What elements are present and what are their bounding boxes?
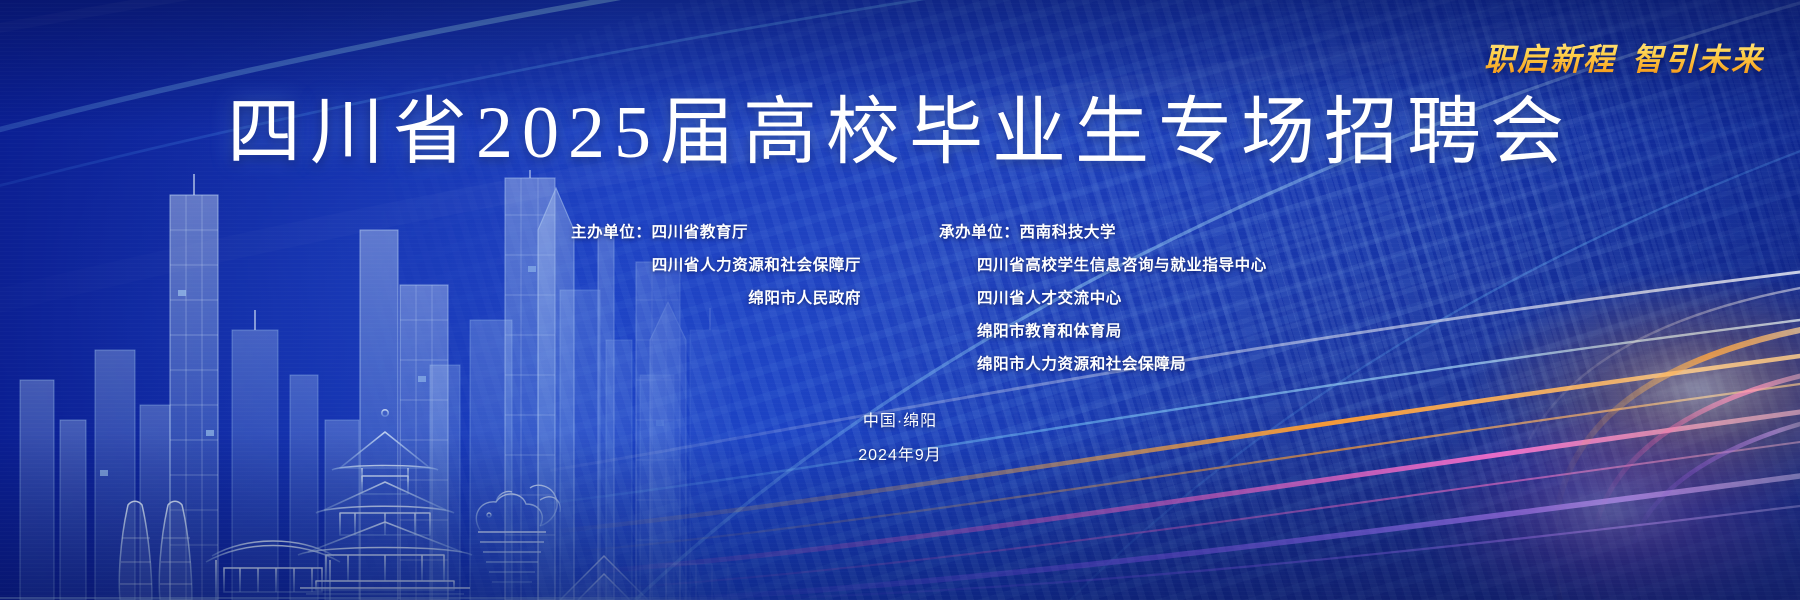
coorganizer-item: 四川省人才交流中心	[939, 282, 1239, 315]
banner-slogan: 职启新程智引未来	[1484, 34, 1764, 79]
event-footer: 中国·绵阳 2024年9月	[0, 405, 1800, 473]
event-date: 2024年9月	[0, 439, 1800, 473]
coorganizer-label: 承办单位：	[939, 224, 1020, 241]
page-title: 四川省2025届高校毕业生专场招聘会	[0, 96, 1800, 170]
host-organizer-label: 主办单位：	[571, 224, 652, 241]
host-organizer-item: 四川省人力资源和社会保障厅	[561, 249, 861, 282]
host-organizer-first-line: 主办单位：四川省教育厅	[561, 216, 861, 249]
coorganizer-column: 承办单位：西南科技大学 四川省高校学生信息咨询与就业指导中心 四川省人才交流中心…	[939, 216, 1239, 381]
slogan-part-1: 职启新程	[1484, 42, 1616, 77]
coorganizer-first-line: 承办单位：西南科技大学	[939, 216, 1239, 249]
organizers-section: 主办单位：四川省教育厅 四川省人力资源和社会保障厅 绵阳市人民政府 承办单位：西…	[0, 216, 1800, 381]
slogan-part-2: 智引未来	[1632, 42, 1764, 77]
coorganizer-item: 绵阳市人力资源和社会保障局	[939, 348, 1239, 381]
event-location: 中国·绵阳	[0, 405, 1800, 439]
host-organizer-primary: 四川省教育厅	[652, 224, 749, 241]
coorganizer-item: 绵阳市教育和体育局	[939, 315, 1239, 348]
coorganizer-primary: 西南科技大学	[1020, 224, 1117, 241]
host-organizer-column: 主办单位：四川省教育厅 四川省人力资源和社会保障厅 绵阳市人民政府	[561, 216, 861, 381]
host-organizer-item: 绵阳市人民政府	[561, 282, 861, 315]
recruitment-banner: 职启新程智引未来 四川省2025届高校毕业生专场招聘会 主办单位：四川省教育厅 …	[0, 0, 1800, 600]
banner-content: 职启新程智引未来 四川省2025届高校毕业生专场招聘会 主办单位：四川省教育厅 …	[0, 0, 1800, 600]
coorganizer-item: 四川省高校学生信息咨询与就业指导中心	[939, 249, 1239, 282]
